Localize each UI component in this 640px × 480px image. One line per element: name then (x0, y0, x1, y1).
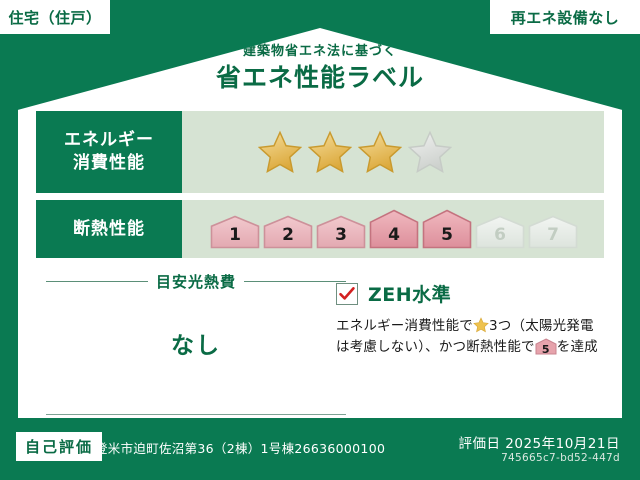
insulation-performance-value-cell: 1234567 (182, 200, 604, 258)
property-address: 登米市迫町佐沼第36（2棟）1号棟26636000100 (95, 438, 385, 457)
zeh-desc-part1: エネルギー消費性能で (336, 318, 473, 334)
building-type-tag-label: 住宅（住戸） (8, 7, 101, 28)
insulation-grade-badge: 2 (263, 215, 313, 249)
star-filled-icon (358, 130, 402, 174)
insulation-grade-badge: 5 (422, 209, 472, 249)
insulation-grade-badge: 4 (369, 209, 419, 249)
insulation-grade-badge: 1 (210, 215, 260, 249)
insulation-grade-badge: 3 (316, 215, 366, 249)
renewable-energy-tag: 再エネ設備なし (490, 0, 640, 34)
page-title: 省エネ性能ラベル (18, 62, 622, 95)
insulation-grade-value: 4 (369, 225, 419, 245)
building-type-tag: 住宅（住戸） (0, 0, 110, 34)
zeh-description: エネルギー消費性能で3つ（太陽光発電 は考慮しない）、かつ断熱性能で5を達成 (336, 316, 608, 358)
insulation-grade-value: 5 (422, 225, 472, 245)
utility-cost-bottom-rule (46, 414, 346, 415)
insulation-badge-icon-value: 5 (535, 344, 557, 355)
zeh-desc-part2: は考慮しない）、かつ断熱性能で (336, 339, 535, 355)
utility-cost-header: 目安光熱費 (46, 271, 346, 292)
insulation-performance-row: 断熱性能 1234567 (36, 200, 604, 258)
insulation-grade-value: 6 (475, 225, 525, 245)
self-evaluation-badge: 自己評価 (16, 432, 102, 461)
zeh-desc-part3: を達成 (557, 339, 598, 355)
energy-label-line1: エネルギー (64, 129, 154, 152)
zeh-header: ZEH水準 (336, 280, 608, 307)
rule-left (46, 281, 148, 282)
zeh-desc-stars: 3つ（太陽光発電 (489, 318, 594, 334)
utility-cost-title: 目安光熱費 (156, 271, 236, 292)
renewable-energy-tag-label: 再エネ設備なし (511, 7, 620, 28)
insulation-grade-value: 1 (210, 225, 260, 245)
check-icon (338, 285, 356, 303)
energy-performance-value-cell (182, 111, 604, 193)
star-rating (182, 130, 452, 174)
evaluation-id: 745665c7-bd52-447d (501, 452, 620, 464)
insulation-label: 断熱性能 (73, 218, 145, 241)
evaluation-date: 評価日 2025年10月21日 (458, 432, 620, 452)
insulation-grade-scale: 1234567 (182, 209, 578, 249)
star-icon (473, 317, 489, 333)
title-subtitle: 建築物省エネ法に基づく (18, 44, 622, 60)
insulation-performance-label-cell: 断熱性能 (36, 200, 182, 258)
energy-label-line2: 消費性能 (73, 152, 145, 175)
insulation-grade-badge: 6 (475, 215, 525, 249)
energy-performance-label: 住宅（住戸） 再エネ設備なし 建築物省エネ法に基づく 省エネ性能ラベル エネルギ… (0, 0, 640, 480)
utility-cost-block: 目安光熱費 なし (46, 271, 346, 360)
insulation-grade-value: 7 (528, 225, 578, 245)
star-filled-icon (308, 130, 352, 174)
insulation-grade-value: 2 (263, 225, 313, 245)
zeh-title: ZEH水準 (368, 280, 451, 307)
zeh-block: ZEH水準 エネルギー消費性能で3つ（太陽光発電 は考慮しない）、かつ断熱性能で… (336, 280, 608, 358)
utility-cost-value: なし (46, 326, 346, 360)
rule-right (244, 281, 346, 282)
energy-performance-row: エネルギー 消費性能 (36, 111, 604, 193)
insulation-badge-icon: 5 (535, 338, 557, 355)
label-panel: 建築物省エネ法に基づく 省エネ性能ラベル エネルギー 消費性能 断熱性能 (18, 28, 622, 418)
star-filled-icon (258, 130, 302, 174)
star-empty-icon (408, 130, 452, 174)
energy-performance-label-cell: エネルギー 消費性能 (36, 111, 182, 193)
insulation-grade-value: 3 (316, 225, 366, 245)
zeh-checkbox[interactable] (336, 283, 358, 305)
insulation-grade-badge: 7 (528, 215, 578, 249)
footer: 自己評価 登米市迫町佐沼第36（2棟）1号棟26636000100 評価日 20… (0, 418, 640, 480)
title-block: 建築物省エネ法に基づく 省エネ性能ラベル (18, 44, 622, 94)
